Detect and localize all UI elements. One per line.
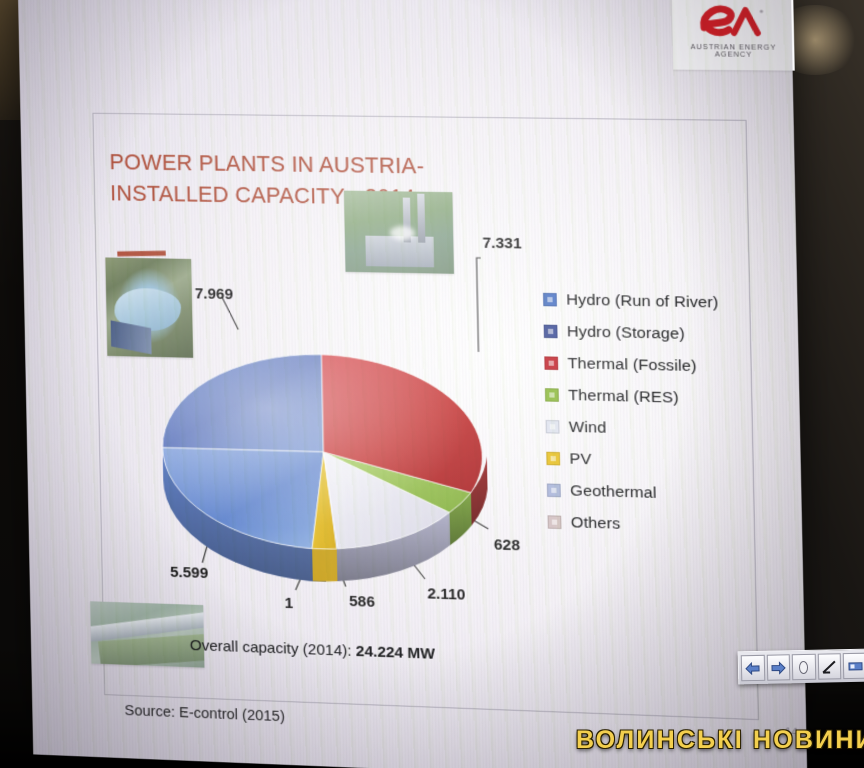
legend-swatch-icon [543,293,557,307]
legend-item-thermal-fossile[interactable]: Thermal (Fossile) [544,347,756,384]
rectangle-icon [848,660,863,671]
menu-button[interactable] [843,653,864,679]
legend-item-thermal-res[interactable]: Thermal (RES) [545,379,757,416]
legend-label: PV [569,450,591,469]
logo-caption: AUSTRIAN ENERGY AGENCY [673,44,795,59]
legend-item-hydro-run-of-river[interactable]: Hydro (Run of River) [543,284,755,320]
legend-item-others[interactable]: Others [547,506,759,544]
legend-label: Geothermal [570,482,657,503]
next-slide-button[interactable] [766,654,790,680]
ea-logo-icon [695,1,770,43]
legend-label: Wind [569,418,607,437]
watermark: ВОЛИНСЬКІ НОВИНИ [576,726,864,755]
smoke-plume [390,226,415,241]
pie-slice-hydro-storage [161,351,324,452]
austrian-energy-agency-logo: AUSTRIAN ENERGY AGENCY [672,0,795,71]
legend-swatch-icon [545,388,559,402]
legend-swatch-icon [546,452,560,466]
legend-swatch-icon [548,515,562,529]
source-note: Source: E-control (2015) [124,703,285,725]
legend-label: Others [571,513,621,533]
callout-thermal-res: 628 [494,536,520,554]
arrow-left-icon [745,661,760,674]
screenshot-stage: AUSTRIAN ENERGY AGENCY POWER PLANTS IN A… [0,0,864,768]
legend-swatch-icon [546,420,560,434]
legend-swatch-icon [547,484,561,498]
legend-swatch-icon [544,356,558,370]
callout-pv: 586 [349,593,375,611]
chart-legend: Hydro (Run of River) Hydro (Storage) The… [543,284,760,545]
page-title: POWER PLANTS IN AUSTRIA- INSTALLED CAPAC… [109,147,552,216]
pie-chart [152,297,496,585]
callout-thermal-fossile: 7.331 [482,234,522,252]
pie-slice-hydro-run-of-river [163,448,326,549]
arrow-right-icon [771,661,786,674]
title-accent-bar [117,251,166,257]
legend-label: Hydro (Storage) [567,323,685,344]
callout-hydro-storage: 7.969 [195,285,233,303]
smokestack-right-icon [417,194,425,243]
pie-chart-svg [152,297,496,585]
pointer-button[interactable] [792,654,816,680]
pen-button[interactable] [818,653,842,679]
callout-hydro-run-of-river: 5.599 [170,564,208,582]
presentation-slide: AUSTRIAN ENERGY AGENCY POWER PLANTS IN A… [18,0,807,768]
thermal-plant-photo [344,191,454,274]
legend-label: Thermal (RES) [568,386,679,407]
presentation-toolbar[interactable] [738,649,864,685]
legend-swatch-icon [544,325,558,339]
legend-label: Thermal (Fossile) [567,354,696,375]
callout-geothermal: 1 [284,595,293,613]
callout-wind: 2.110 [427,585,465,604]
pointer-icon [797,659,810,674]
projection-screen: AUSTRIAN ENERGY AGENCY POWER PLANTS IN A… [18,0,807,768]
previous-slide-button[interactable] [741,655,765,681]
legend-label: Hydro (Run of River) [566,291,719,312]
run-of-river-plant-photo [90,601,204,667]
overall-capacity-value: 24.224 MW [356,643,436,663]
pen-icon [822,659,837,674]
legend-item-hydro-storage[interactable]: Hydro (Storage) [543,315,755,351]
